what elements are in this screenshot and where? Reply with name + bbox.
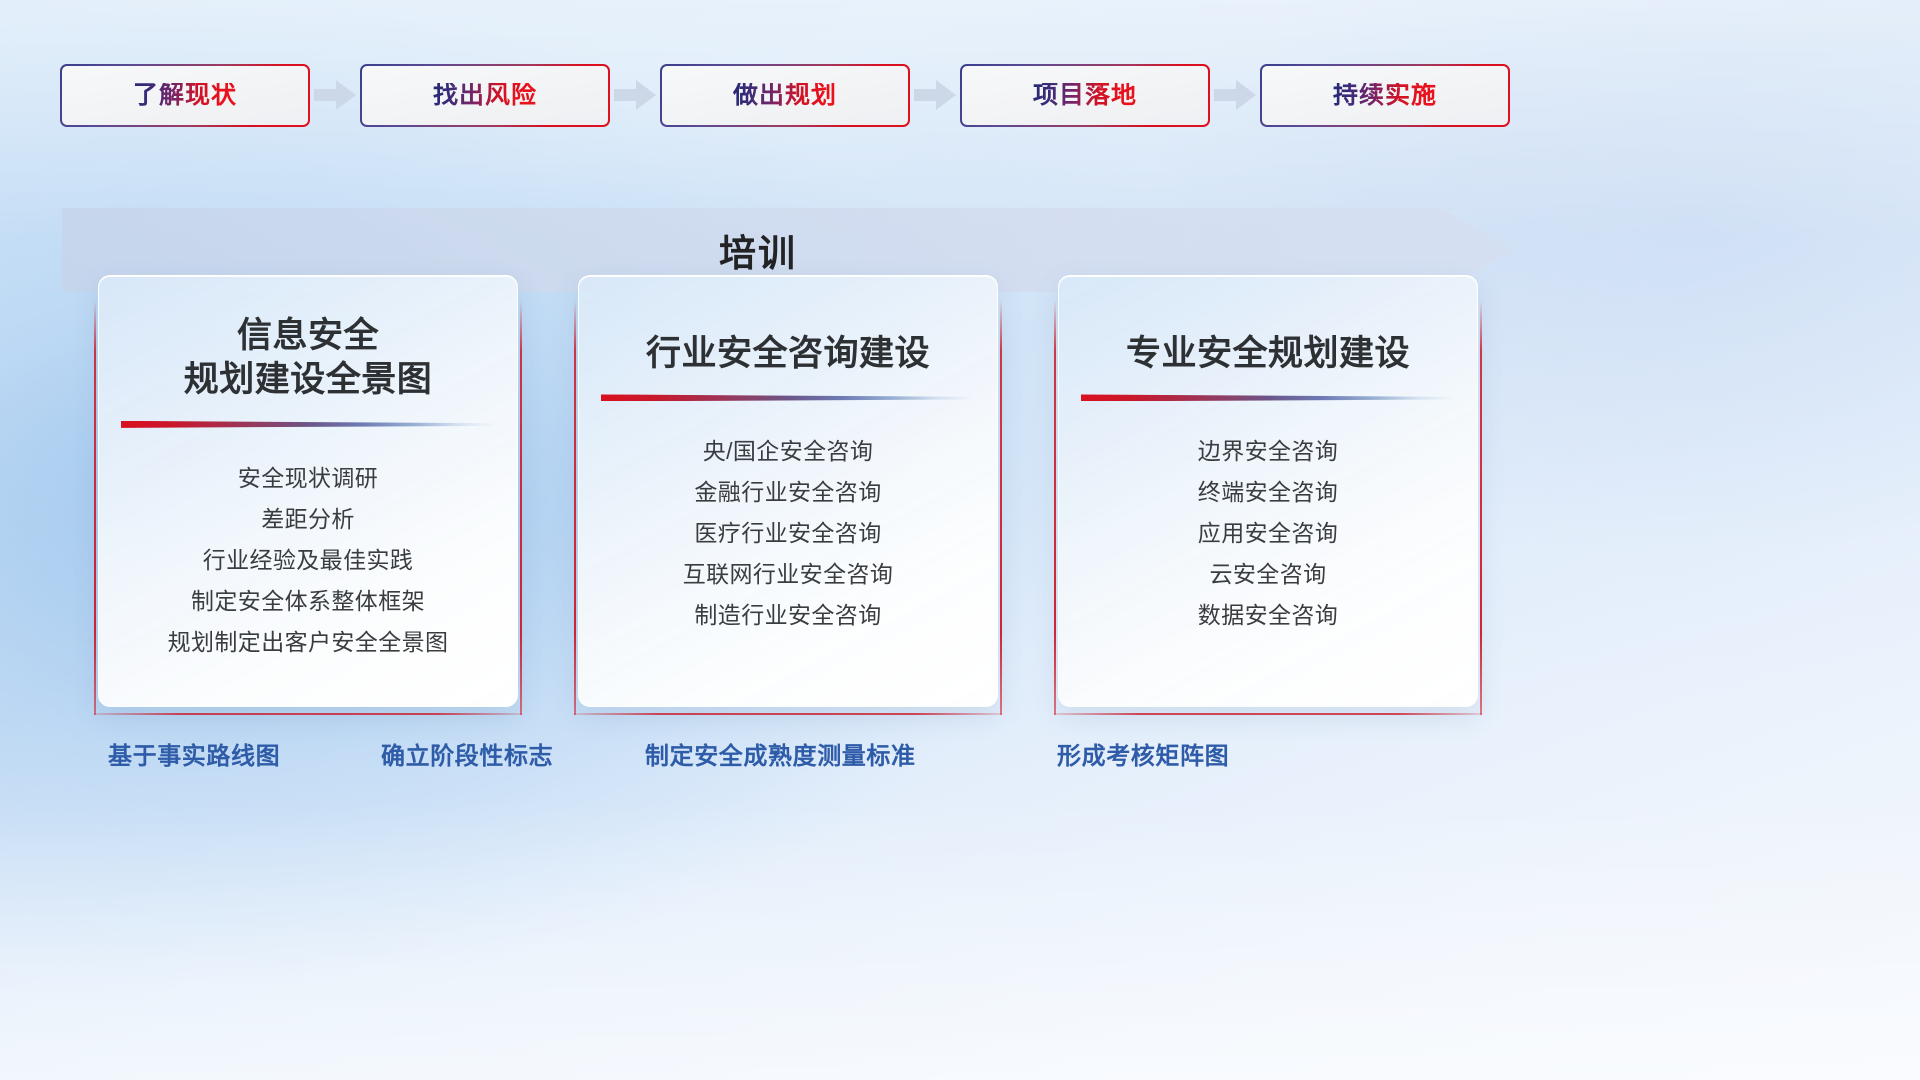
card-wrapper-3: 专业安全规划建设 边界安全咨询 终端安全咨询 应用安全咨询 云安全咨询 数据安全…	[1052, 275, 1484, 715]
card-title: 行业安全咨询建设	[579, 332, 997, 376]
list-item: 互联网行业安全咨询	[683, 554, 894, 595]
footnote-2: 确立阶段性标志	[381, 745, 553, 769]
card-industry-security-consulting[interactable]: 行业安全咨询建设 央/国企安全咨询 金融行业安全咨询 医疗行业安全咨询 互联网行…	[578, 275, 998, 707]
step-label: 做出规划	[733, 83, 837, 108]
step-box-inner: 找出风险	[362, 66, 608, 125]
card-edge-bottom	[1054, 713, 1482, 715]
step-arrow-icon-2	[610, 77, 660, 113]
card-wrapper-1: 信息安全 规划建设全景图 安全现状调研 差距分析 行业经验及最佳实践 制定安全体…	[92, 275, 524, 715]
card-edge-left	[94, 301, 96, 715]
card-title: 专业安全规划建设	[1059, 332, 1477, 376]
step-box-inner: 项目落地	[962, 66, 1208, 125]
list-item: 云安全咨询	[1210, 554, 1327, 595]
card-edge-bottom	[94, 713, 522, 715]
card-wrapper-2: 行业安全咨询建设 央/国企安全咨询 金融行业安全咨询 医疗行业安全咨询 互联网行…	[572, 275, 1004, 715]
card-title: 信息安全 规划建设全景图	[99, 314, 517, 403]
step-box-inner: 做出规划	[662, 66, 908, 125]
card-divider	[121, 421, 495, 428]
card-edge-bottom	[574, 713, 1002, 715]
list-item: 数据安全咨询	[1198, 595, 1338, 636]
card-professional-security-planning[interactable]: 专业安全规划建设 边界安全咨询 终端安全咨询 应用安全咨询 云安全咨询 数据安全…	[1058, 275, 1478, 707]
card-list: 边界安全咨询 终端安全咨询 应用安全咨询 云安全咨询 数据安全咨询	[1059, 431, 1477, 636]
card-edge-left	[574, 301, 576, 715]
footnote-4: 形成考核矩阵图	[1057, 745, 1229, 769]
list-item: 边界安全咨询	[1198, 431, 1338, 472]
list-item: 制定安全体系整体框架	[191, 581, 425, 622]
list-item: 医疗行业安全咨询	[694, 513, 881, 554]
card-edge-right	[520, 301, 522, 715]
step-arrow-icon-3	[910, 77, 960, 113]
slide-canvas: 了解现状 找出风险 做出规划	[0, 0, 1920, 1080]
step-arrow-icon-1	[310, 77, 360, 113]
footnote-row: 基于事实路线图 确立阶段性标志 制定安全成熟度测量标准 形成考核矩阵图	[0, 745, 1920, 787]
step-label: 持续实施	[1333, 83, 1437, 108]
step-arrow-icon-4	[1210, 77, 1260, 113]
list-item: 应用安全咨询	[1198, 513, 1338, 554]
card-edge-right	[1000, 301, 1002, 715]
card-divider	[1081, 394, 1455, 401]
card-list: 央/国企安全咨询 金融行业安全咨询 医疗行业安全咨询 互联网行业安全咨询 制造行…	[579, 431, 997, 636]
list-item: 差距分析	[261, 499, 355, 540]
list-item: 金融行业安全咨询	[694, 472, 881, 513]
list-item: 终端安全咨询	[1198, 472, 1338, 513]
step-box-4[interactable]: 项目落地	[960, 64, 1210, 127]
card-edge-left	[1054, 301, 1056, 715]
step-label: 项目落地	[1033, 83, 1137, 108]
footnote-1: 基于事实路线图	[108, 745, 280, 769]
step-box-2[interactable]: 找出风险	[360, 64, 610, 127]
process-step-row: 了解现状 找出风险 做出规划	[60, 62, 1508, 128]
step-label: 找出风险	[433, 83, 537, 108]
step-box-inner: 了解现状	[62, 66, 308, 125]
step-box-3[interactable]: 做出规划	[660, 64, 910, 127]
list-item: 制造行业安全咨询	[694, 595, 881, 636]
step-label: 了解现状	[133, 83, 237, 108]
list-item: 央/国企安全咨询	[703, 431, 874, 472]
card-edge-right	[1480, 301, 1482, 715]
card-divider	[601, 394, 975, 401]
list-item: 规划制定出客户安全全景图	[168, 622, 449, 663]
footnote-3: 制定安全成熟度测量标准	[645, 745, 916, 769]
step-box-1[interactable]: 了解现状	[60, 64, 310, 127]
step-box-5[interactable]: 持续实施	[1260, 64, 1510, 127]
step-box-inner: 持续实施	[1262, 66, 1508, 125]
card-info-security-blueprint[interactable]: 信息安全 规划建设全景图 安全现状调研 差距分析 行业经验及最佳实践 制定安全体…	[98, 275, 518, 707]
card-row: 信息安全 规划建设全景图 安全现状调研 差距分析 行业经验及最佳实践 制定安全体…	[92, 275, 1484, 715]
card-list: 安全现状调研 差距分析 行业经验及最佳实践 制定安全体系整体框架 规划制定出客户…	[99, 458, 517, 663]
list-item: 安全现状调研	[238, 458, 378, 499]
list-item: 行业经验及最佳实践	[203, 540, 414, 581]
